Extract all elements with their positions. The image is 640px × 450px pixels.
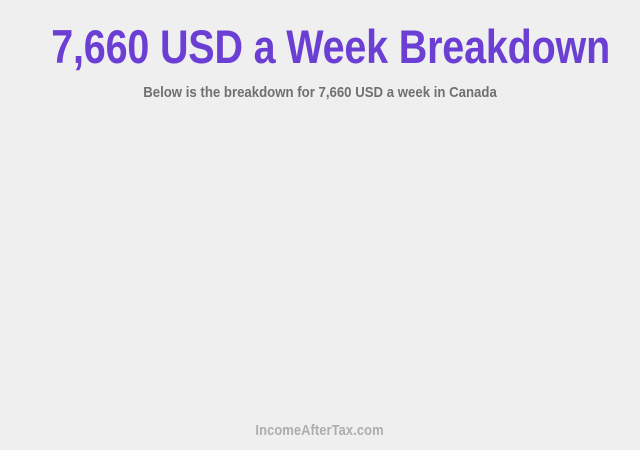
site-brand-label: IncomeAfterTax.com	[256, 423, 384, 438]
page-footer: IncomeAfterTax.com	[0, 408, 640, 450]
breakdown-page: 7,660 USD a Week Breakdown Below is the …	[0, 0, 640, 450]
page-header: 7,660 USD a Week Breakdown Below is the …	[0, 0, 640, 101]
page-subtitle: Below is the breakdown for 7,660 USD a w…	[38, 72, 601, 101]
chart-area	[0, 118, 640, 408]
page-title: 7,660 USD a Week Breakdown	[51, 0, 589, 72]
